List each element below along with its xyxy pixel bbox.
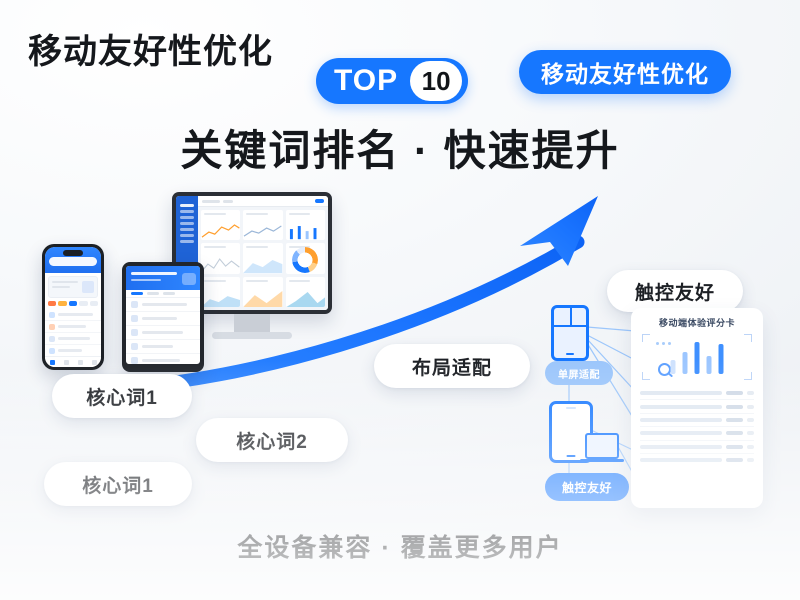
list-item bbox=[45, 321, 101, 333]
table-row bbox=[640, 400, 754, 413]
tablet-screen bbox=[126, 266, 200, 364]
dashboard-card bbox=[243, 243, 282, 273]
dashboard-card bbox=[201, 210, 240, 240]
top-badge-label: TOP bbox=[334, 66, 410, 96]
mini-pill-touch: 触控友好 bbox=[545, 473, 629, 501]
phone-screen bbox=[45, 247, 101, 367]
table-row bbox=[640, 454, 754, 466]
list-item bbox=[126, 298, 200, 312]
dashboard-card bbox=[243, 277, 282, 307]
header-tag-pill: 移动友好性优化 bbox=[519, 50, 731, 94]
list-item bbox=[126, 326, 200, 340]
keyword-pill-1[interactable]: 核心词1 bbox=[52, 374, 192, 418]
monitor-foot bbox=[212, 332, 292, 339]
mobile-experience-illustration: 单屏适配 触控友好 移动端体验评分卡 bbox=[543, 305, 763, 510]
search-bar bbox=[49, 257, 97, 266]
list-item bbox=[126, 340, 200, 354]
table-row bbox=[640, 387, 754, 400]
tablet-icon bbox=[122, 262, 204, 372]
keyword-pill-2[interactable]: 核心词2 bbox=[196, 418, 348, 462]
laptop-icon bbox=[585, 433, 619, 459]
dashboard-cards bbox=[198, 207, 328, 310]
phone-notch bbox=[63, 250, 83, 256]
phone-tabbar bbox=[45, 356, 101, 367]
dashboard-donut-card bbox=[286, 243, 325, 273]
bar-chart bbox=[671, 340, 724, 374]
donut-chart bbox=[292, 247, 318, 273]
dashboard-card bbox=[243, 210, 282, 240]
score-card-chart bbox=[642, 334, 752, 380]
list-item bbox=[45, 309, 101, 321]
layout-adapt-pill[interactable]: 布局适配 bbox=[374, 344, 530, 388]
top-badge-number: 10 bbox=[410, 61, 462, 101]
mini-pill-adapt: 单屏适配 bbox=[545, 361, 613, 385]
dashboard-card bbox=[286, 210, 325, 240]
poster-canvas: 移动友好性优化 TOP 10 移动友好性优化 关键词排名 · 快速提升 bbox=[0, 0, 800, 600]
dashboard-main bbox=[198, 196, 328, 310]
monitor-stand bbox=[234, 314, 270, 332]
dashboard-card bbox=[201, 243, 240, 273]
table-row bbox=[640, 427, 754, 440]
tablet-banner bbox=[126, 266, 200, 290]
table-row bbox=[640, 441, 754, 454]
kicker-title: 移动友好性优化 bbox=[28, 24, 273, 73]
table-row bbox=[640, 414, 754, 427]
tablet-tabs bbox=[126, 290, 200, 298]
page-headline: 关键词排名 · 快速提升 bbox=[0, 117, 800, 178]
smartphone-icon bbox=[42, 244, 104, 370]
dashboard-card bbox=[286, 277, 325, 307]
list-item bbox=[126, 312, 200, 326]
footer-caption: 全设备兼容 · 覆盖更多用户 bbox=[0, 528, 800, 564]
phone-hero-banner bbox=[48, 276, 98, 298]
list-item bbox=[45, 333, 101, 345]
chart-dots bbox=[656, 342, 671, 345]
dashboard-card bbox=[201, 277, 240, 307]
phone-category-chips bbox=[45, 301, 101, 309]
keyword-pill-3[interactable]: 核心词1 bbox=[44, 462, 192, 506]
magnifier-icon bbox=[658, 363, 671, 376]
small-phone-icon bbox=[551, 305, 589, 361]
score-card-title: 移动端体验评分卡 bbox=[640, 316, 754, 329]
top-10-badge: TOP 10 bbox=[316, 58, 468, 104]
mobile-score-card: 移动端体验评分卡 bbox=[631, 308, 763, 508]
device-mockup-group bbox=[20, 192, 350, 392]
list-item bbox=[126, 354, 200, 364]
dashboard-topbar bbox=[198, 196, 328, 207]
